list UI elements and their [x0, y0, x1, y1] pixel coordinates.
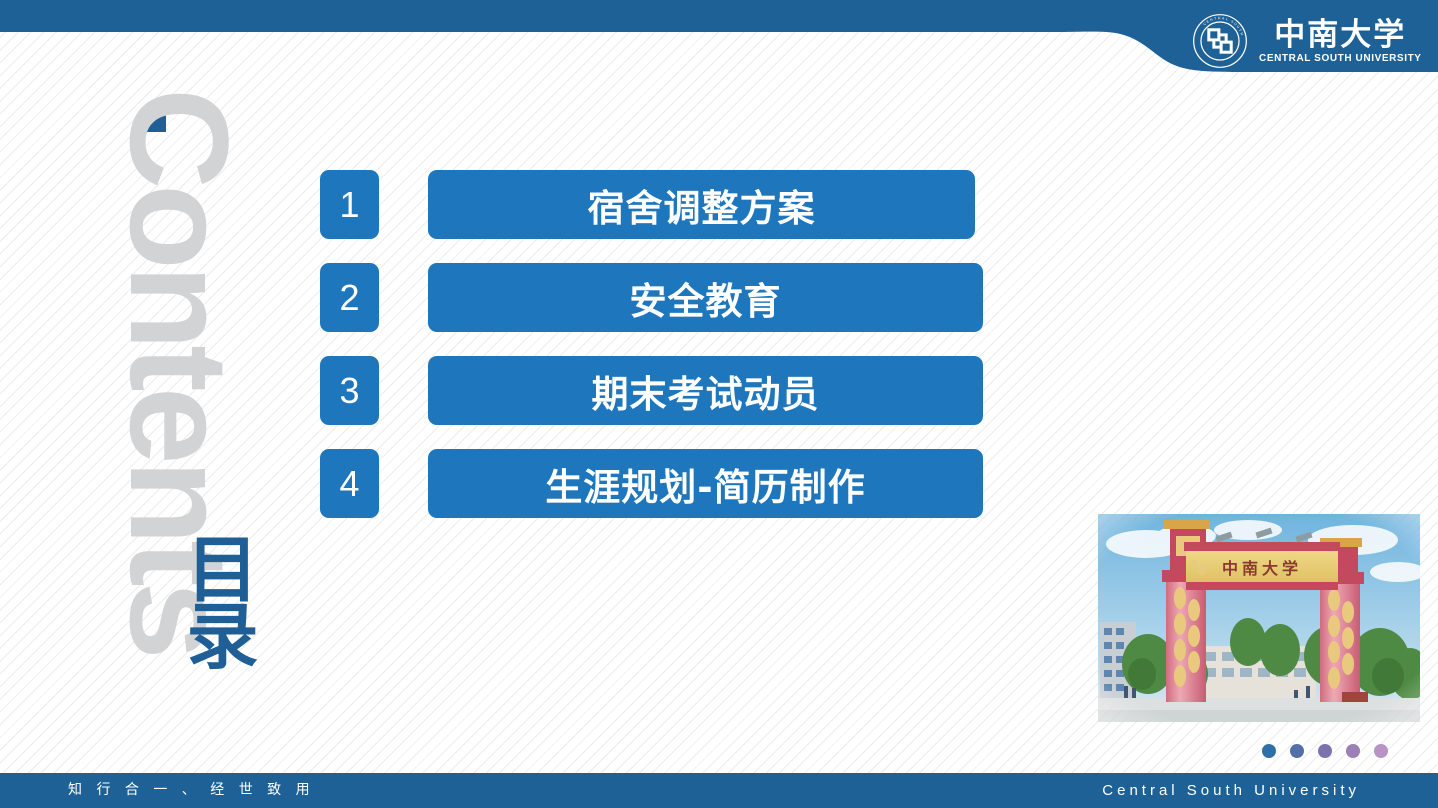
brand-name-en: CENTRAL SOUTH UNIVERSITY — [1259, 53, 1422, 64]
contents-column: Contents 目 录 — [62, 105, 292, 725]
agenda-label-bar-1[interactable]: 宿舍调整方案 — [428, 170, 975, 239]
agenda-number-badge-2: 2 — [320, 263, 379, 332]
campus-gate-photo: 中南大学 — [1098, 514, 1420, 722]
slide-root: C E N T R A L S O U T H 中南大学 CENTRAL SOU… — [0, 0, 1438, 808]
campus-gate-illustration: 中南大学 — [1098, 514, 1420, 722]
svg-text:R: R — [1218, 16, 1221, 20]
section-title-cn: 目 录 — [170, 537, 275, 671]
pagination-dot-4[interactable] — [1346, 744, 1360, 758]
footer-motto: 知 行 合 一 、 经 世 致 用 — [68, 773, 315, 808]
agenda-item-3[interactable]: 3 期末考试动员 — [320, 356, 1000, 425]
svg-text:A: A — [1222, 16, 1226, 20]
agenda-number-badge-3: 3 — [320, 356, 379, 425]
agenda-number-badge-1: 1 — [320, 170, 379, 239]
footer-bar: 知 行 合 一 、 经 世 致 用 Central South Universi… — [0, 773, 1438, 808]
gate-inscription: 中南大学 — [1222, 559, 1302, 578]
pagination-dots[interactable] — [1262, 744, 1388, 758]
agenda-list: 1 宿舍调整方案 2 安全教育 3 期末考试动员 4 生涯规划-简历制作 — [320, 170, 1000, 518]
footer-university-name: Central South University — [1102, 773, 1360, 808]
pagination-dot-1[interactable] — [1262, 744, 1276, 758]
university-logo: C E N T R A L S O U T H 中南大学 CENTRAL SOU… — [1192, 13, 1422, 69]
agenda-number-badge-4: 4 — [320, 449, 379, 518]
pagination-dot-3[interactable] — [1318, 744, 1332, 758]
csu-seal-icon: C E N T R A L S O U T H — [1192, 13, 1248, 69]
svg-text:T: T — [1214, 16, 1218, 21]
svg-text:N: N — [1210, 17, 1214, 22]
agenda-label-bar-2[interactable]: 安全教育 — [428, 263, 983, 332]
title-char-1: 目 — [170, 537, 275, 604]
pagination-dot-2[interactable] — [1290, 744, 1304, 758]
agenda-label-bar-3[interactable]: 期末考试动员 — [428, 356, 983, 425]
title-char-2: 录 — [170, 604, 275, 671]
brand-name-cn: 中南大学 — [1274, 19, 1406, 52]
logo-wordmark: 中南大学 CENTRAL SOUTH UNIVERSITY — [1259, 19, 1422, 65]
agenda-item-2[interactable]: 2 安全教育 — [320, 263, 1000, 332]
agenda-item-4[interactable]: 4 生涯规划-简历制作 — [320, 449, 1000, 518]
agenda-label-bar-4[interactable]: 生涯规划-简历制作 — [428, 449, 983, 518]
svg-text:L: L — [1226, 17, 1229, 21]
agenda-item-1[interactable]: 1 宿舍调整方案 — [320, 170, 1000, 239]
pagination-dot-5[interactable] — [1374, 744, 1388, 758]
svg-text:H: H — [1239, 32, 1244, 36]
